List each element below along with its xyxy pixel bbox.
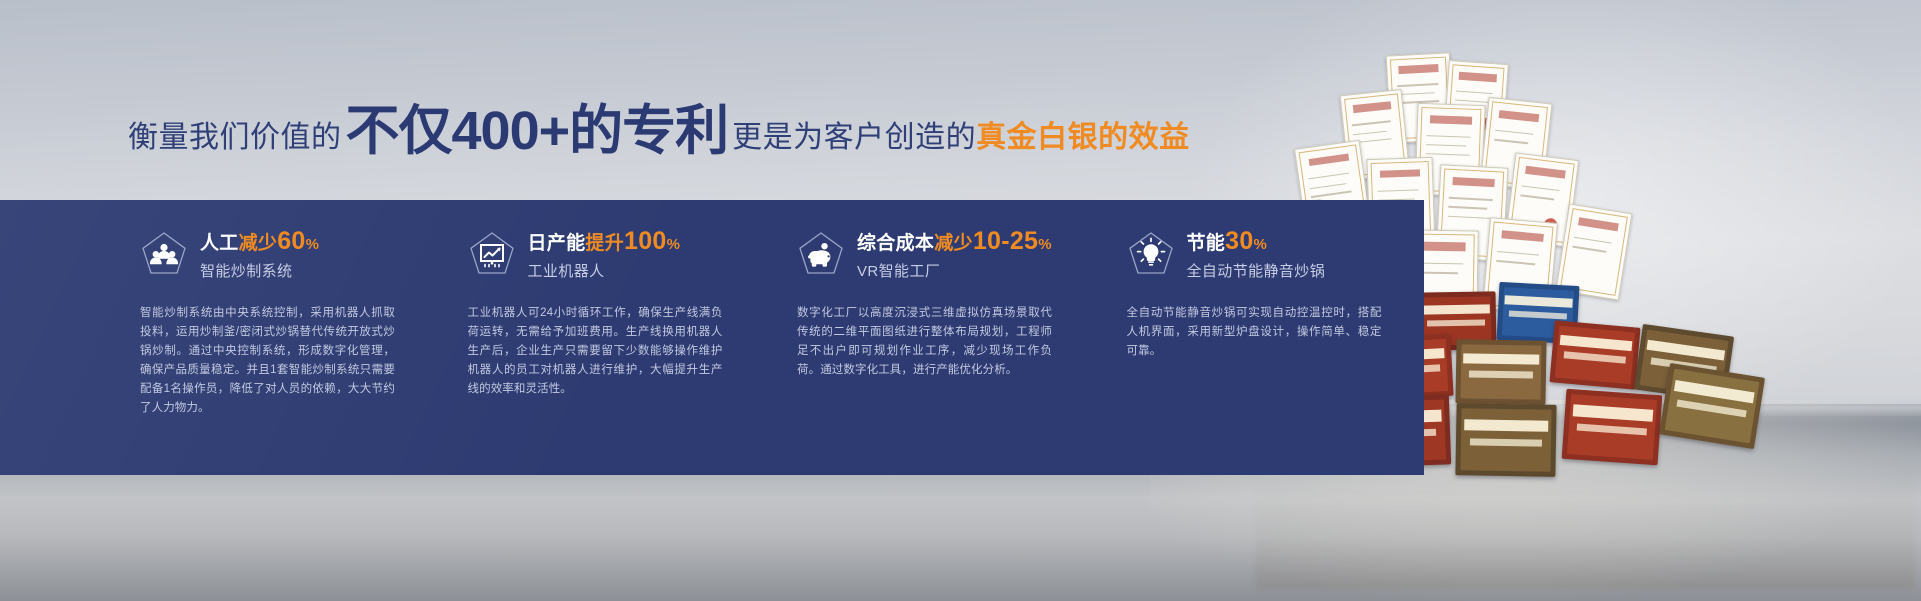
feature-title-prefix: 人工: [200, 233, 239, 254]
headline-middle: 更是为客户创造的: [732, 112, 976, 156]
feature-title: 节能30%: [1187, 233, 1268, 254]
feature-body: 数字化工厂以高度沉浸式三维虚拟仿真场景取代传统的二维平面图纸进行整体布局规划，工…: [797, 304, 1052, 380]
feature-title-number: 30: [1225, 227, 1253, 255]
award-plaque: [1455, 339, 1546, 405]
feature-title-percent: %: [306, 236, 320, 253]
headline-lead: 衡量我们价值的: [128, 112, 342, 156]
award-plaque: [1549, 320, 1640, 389]
feature-title-number: 60: [277, 227, 305, 255]
headline-emphasis: 不仅400+的专利: [346, 86, 729, 165]
feature-title-prefix: 日产能: [528, 233, 586, 254]
feature-subtitle: 工业机器人: [528, 262, 681, 282]
piggy-bank-icon: [797, 230, 845, 278]
feature-title: 综合成本减少10-25%: [857, 233, 1052, 254]
feature-column-2: 日产能提升100% 工业机器人 工业机器人可24小时循环工作，确保生产线满负荷运…: [468, 200, 766, 475]
people-group-icon: [140, 230, 188, 278]
feature-text-group: 日产能提升100% 工业机器人: [528, 228, 681, 282]
chart-board-icon: [468, 230, 516, 278]
feature-header: 节能30% 全自动节能静音炒锅: [1127, 228, 1425, 282]
feature-title: 日产能提升100%: [528, 233, 681, 254]
feature-column-3: 综合成本减少10-25% VR智能工厂 数字化工厂以高度沉浸式三维虚拟仿真场景取…: [797, 200, 1095, 475]
banner-stage: 衡量我们价值的 不仅400+的专利 更是为客户创造的 真金白银的效益: [0, 0, 1921, 601]
feature-subtitle: VR智能工厂: [857, 262, 1052, 282]
feature-subtitle: 全自动节能静音炒锅: [1187, 262, 1326, 282]
award-plaque: [1659, 363, 1765, 449]
feature-title-accent: 提升: [585, 233, 624, 254]
headline: 衡量我们价值的 不仅400+的专利 更是为客户创造的 真金白银的效益: [128, 84, 1190, 136]
feature-header: 综合成本减少10-25% VR智能工厂: [797, 228, 1095, 282]
feature-panel: 人工减少60% 智能炒制系统 智能炒制系统由中央系统控制，采用机器人抓取投料，运…: [0, 200, 1424, 475]
feature-text-group: 人工减少60% 智能炒制系统: [200, 228, 319, 282]
feature-title-percent: %: [667, 236, 681, 253]
feature-title-prefix: 节能: [1187, 233, 1226, 254]
feature-title-accent: 减少: [934, 233, 973, 254]
feature-title-number: 10-25: [973, 227, 1038, 255]
feature-subtitle: 智能炒制系统: [200, 262, 319, 282]
feature-title: 人工减少60%: [200, 233, 319, 254]
feature-title-percent: %: [1254, 236, 1268, 253]
feature-column-4: 节能30% 全自动节能静音炒锅 全自动节能静音炒锅可实现自动控温控时，搭配人机界…: [1127, 200, 1425, 475]
feature-body: 全自动节能静音炒锅可实现自动控温控时，搭配人机界面，采用新型炉盘设计，操作简单、…: [1127, 304, 1382, 361]
award-plaque: [1455, 403, 1556, 477]
feature-title-number: 100: [624, 227, 667, 255]
feature-body: 智能炒制系统由中央系统控制，采用机器人抓取投料，运用炒制釜/密闭式炒锅替代传统开…: [140, 304, 395, 418]
lightbulb-icon: [1127, 230, 1175, 278]
feature-title-prefix: 综合成本: [857, 233, 934, 254]
award-plaque: [1562, 389, 1663, 466]
feature-title-accent: 减少: [239, 233, 278, 254]
feature-header: 人工减少60% 智能炒制系统: [140, 228, 438, 282]
feature-title-percent: %: [1038, 236, 1052, 253]
feature-text-group: 节能30% 全自动节能静音炒锅: [1187, 228, 1326, 282]
feature-columns: 人工减少60% 智能炒制系统 智能炒制系统由中央系统控制，采用机器人抓取投料，运…: [0, 200, 1424, 475]
feature-text-group: 综合成本减少10-25% VR智能工厂: [857, 228, 1052, 282]
headline-highlight: 真金白银的效益: [976, 112, 1190, 156]
feature-body: 工业机器人可24小时循环工作，确保生产线满负荷运转，无需给予加班费用。生产线换用…: [468, 304, 723, 399]
feature-header: 日产能提升100% 工业机器人: [468, 228, 766, 282]
feature-column-1: 人工减少60% 智能炒制系统 智能炒制系统由中央系统控制，采用机器人抓取投料，运…: [140, 200, 438, 475]
